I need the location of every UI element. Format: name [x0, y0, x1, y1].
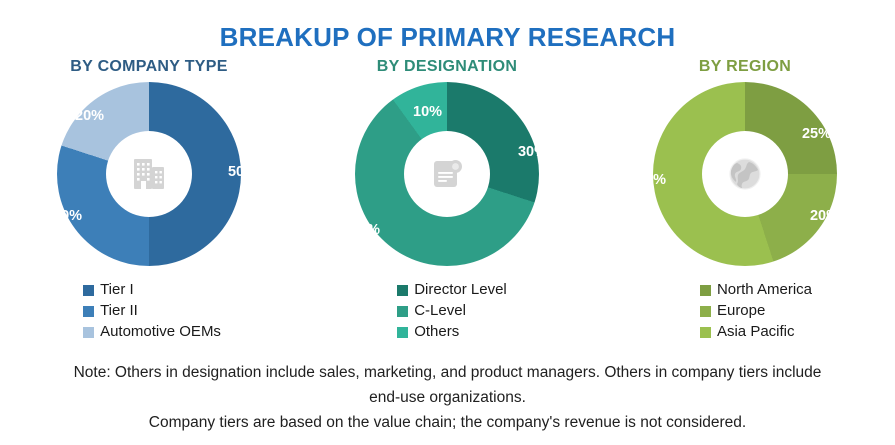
chart-title-region: BY REGION	[699, 58, 791, 76]
legend-item[interactable]: C-Level	[397, 301, 507, 321]
legend-swatch	[83, 285, 94, 296]
page-title: BREAKUP OF PRIMARY RESEARCH	[0, 22, 895, 53]
footer-line-1: Note: Others in designation include sale…	[0, 360, 895, 385]
legend-label: Others	[414, 322, 459, 342]
chart-title-company-type: BY COMPANY TYPE	[70, 58, 227, 76]
donut-center-designation	[404, 131, 490, 217]
legend-item[interactable]: Asia Pacific	[700, 322, 812, 342]
footer-note: Note: Others in designation include sale…	[0, 360, 895, 435]
legend-item[interactable]: Director Level	[397, 280, 507, 300]
chart-designation: BY DESIGNATION	[298, 58, 596, 348]
chart-region: BY REGION	[596, 58, 894, 348]
legend-swatch	[700, 285, 711, 296]
charts-row: BY COMPANY TYPE	[0, 58, 895, 348]
legend-region: North America Europe Asia Pacific	[700, 280, 812, 342]
legend-label: Director Level	[414, 280, 507, 300]
legend-swatch	[700, 306, 711, 317]
legend-swatch	[83, 327, 94, 338]
legend-swatch	[397, 285, 408, 296]
certificate-document-icon	[424, 151, 470, 197]
footer-line-3: Company tiers are based on the value cha…	[0, 410, 895, 435]
legend-item[interactable]: Tier I	[83, 280, 221, 300]
donut-ring-company-type	[57, 82, 241, 266]
legend-label: Europe	[717, 301, 765, 321]
legend-designation: Director Level C-Level Others	[397, 280, 507, 342]
footer-line-2: end-use organizations.	[0, 385, 895, 410]
legend-swatch	[83, 306, 94, 317]
legend-label: Asia Pacific	[717, 322, 795, 342]
donut-center-company-type	[106, 131, 192, 217]
legend-label: Tier II	[100, 301, 138, 321]
legend-item[interactable]: Others	[397, 322, 507, 342]
legend-item[interactable]: Tier II	[83, 301, 221, 321]
donut-designation: 30% 60% 10%	[355, 82, 539, 266]
office-building-icon	[126, 151, 172, 197]
legend-label: C-Level	[414, 301, 466, 321]
legend-label: Automotive OEMs	[100, 322, 221, 342]
donut-center-region	[702, 131, 788, 217]
donut-ring-designation	[355, 82, 539, 266]
donut-region: 25% 20% 55%	[653, 82, 837, 266]
legend-swatch	[397, 306, 408, 317]
donut-company-type: 50% 30% 20%	[57, 82, 241, 266]
legend-item[interactable]: North America	[700, 280, 812, 300]
legend-label: Tier I	[100, 280, 134, 300]
chart-company-type: BY COMPANY TYPE	[0, 58, 298, 348]
legend-company-type: Tier I Tier II Automotive OEMs	[83, 280, 221, 342]
legend-label: North America	[717, 280, 812, 300]
legend-item[interactable]: Automotive OEMs	[83, 322, 221, 342]
legend-item[interactable]: Europe	[700, 301, 812, 321]
legend-swatch	[700, 327, 711, 338]
chart-title-designation: BY DESIGNATION	[377, 58, 518, 76]
donut-ring-region	[653, 82, 837, 266]
globe-icon	[722, 151, 768, 197]
legend-swatch	[397, 327, 408, 338]
infographic-page: BREAKUP OF PRIMARY RESEARCH BY COMPANY T…	[0, 0, 895, 445]
